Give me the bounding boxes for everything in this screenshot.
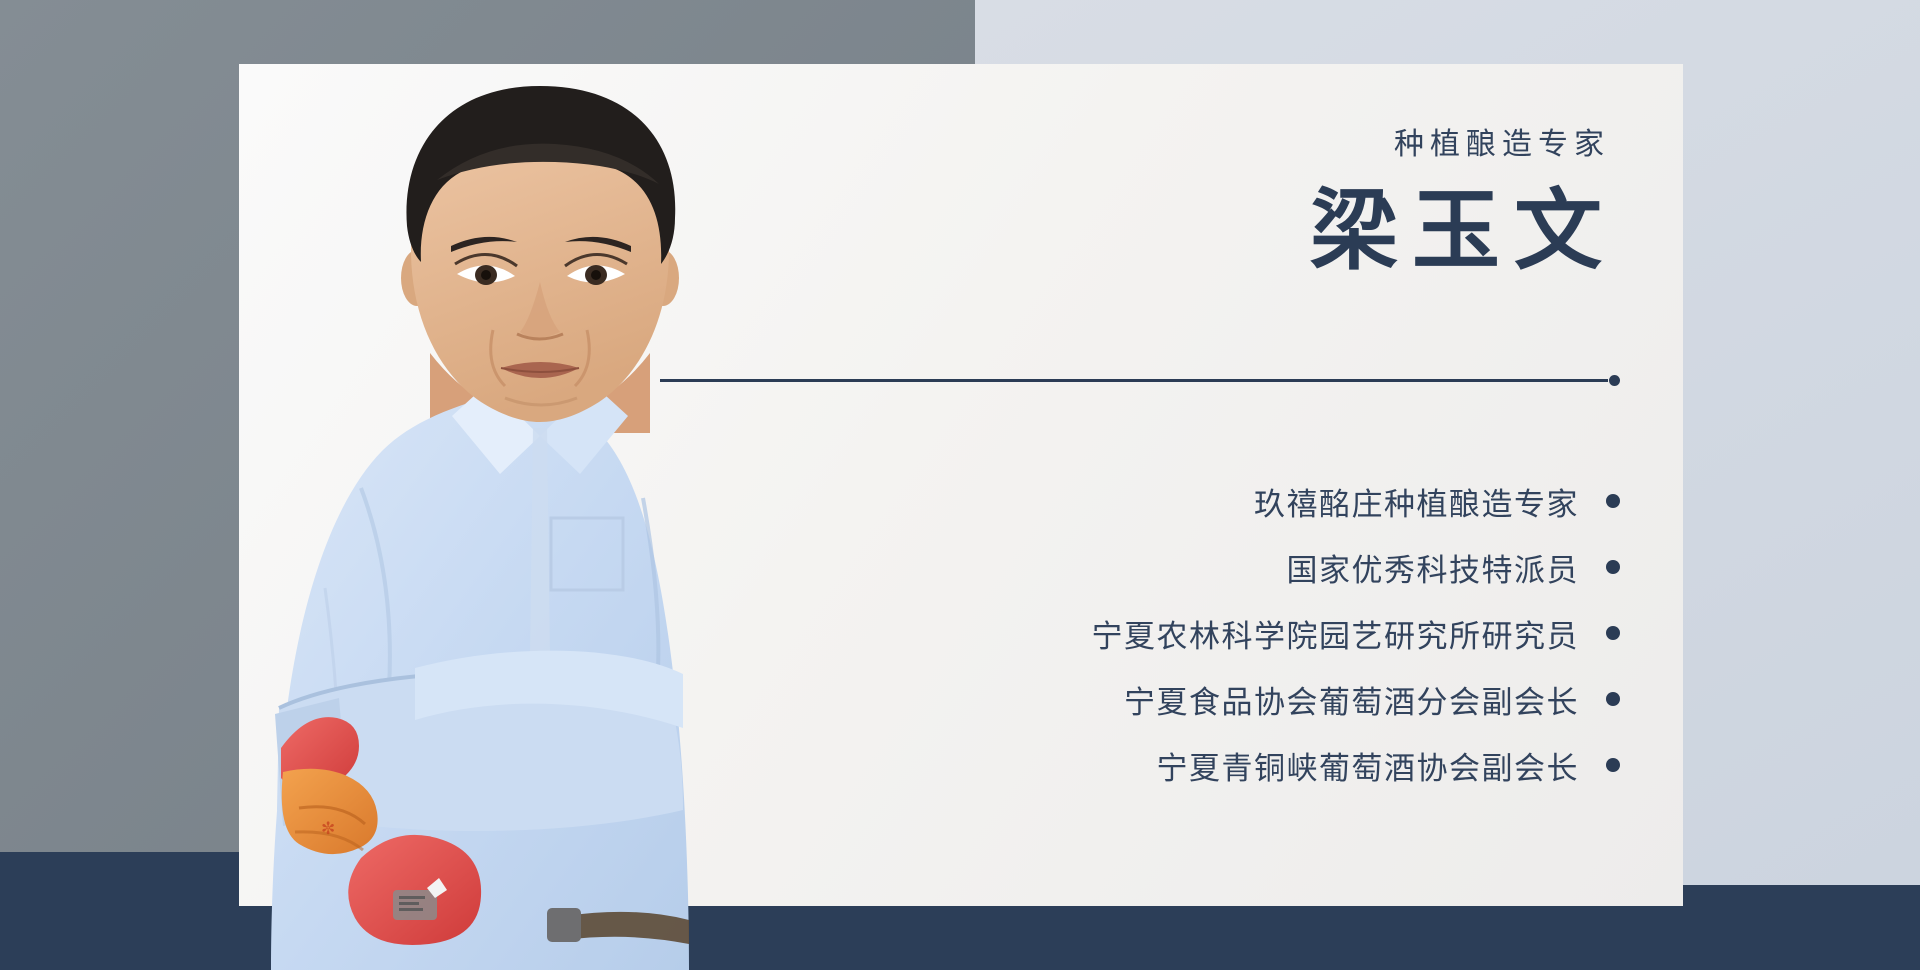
list-item: 国家优秀科技特派员 xyxy=(660,534,1620,600)
bullet-dot-icon xyxy=(1606,692,1620,706)
profile-subtitle: 种植酿造专家 xyxy=(660,130,1620,160)
divider-line xyxy=(660,379,1608,382)
credential-label: 国家优秀科技特派员 xyxy=(1287,545,1580,590)
bullet-dot-icon xyxy=(1606,758,1620,772)
bullet-dot-icon xyxy=(1606,626,1620,640)
credential-label: 宁夏青铜峡葡萄酒协会副会长 xyxy=(1157,743,1580,788)
list-item: 宁夏农林科学院园艺研究所研究员 xyxy=(660,600,1620,666)
profile-name: 梁玉文 xyxy=(660,178,1620,288)
svg-text:✼: ✼ xyxy=(321,819,335,838)
credential-label: 宁夏食品协会葡萄酒分会副会长 xyxy=(1124,677,1579,722)
list-item: 宁夏食品协会葡萄酒分会副会长 xyxy=(660,666,1620,732)
profile-banner: ✼ xyxy=(0,0,1920,970)
credential-label: 宁夏农林科学院园艺研究所研究员 xyxy=(1092,611,1580,656)
list-item: 宁夏青铜峡葡萄酒协会副会长 xyxy=(660,732,1620,798)
bullet-dot-icon xyxy=(1606,494,1620,508)
bullet-dot-icon xyxy=(1606,560,1620,574)
profile-header: 种植酿造专家 梁玉文 xyxy=(660,130,1620,288)
credentials-list: 玖禧酩庄种植酿造专家 国家优秀科技特派员 宁夏农林科学院园艺研究所研究员 宁夏食… xyxy=(660,468,1620,798)
list-item: 玖禧酩庄种植酿造专家 xyxy=(660,468,1620,534)
credential-label: 玖禧酩庄种植酿造专家 xyxy=(1254,479,1579,524)
divider-end-dot xyxy=(1609,375,1620,386)
divider xyxy=(660,374,1620,386)
